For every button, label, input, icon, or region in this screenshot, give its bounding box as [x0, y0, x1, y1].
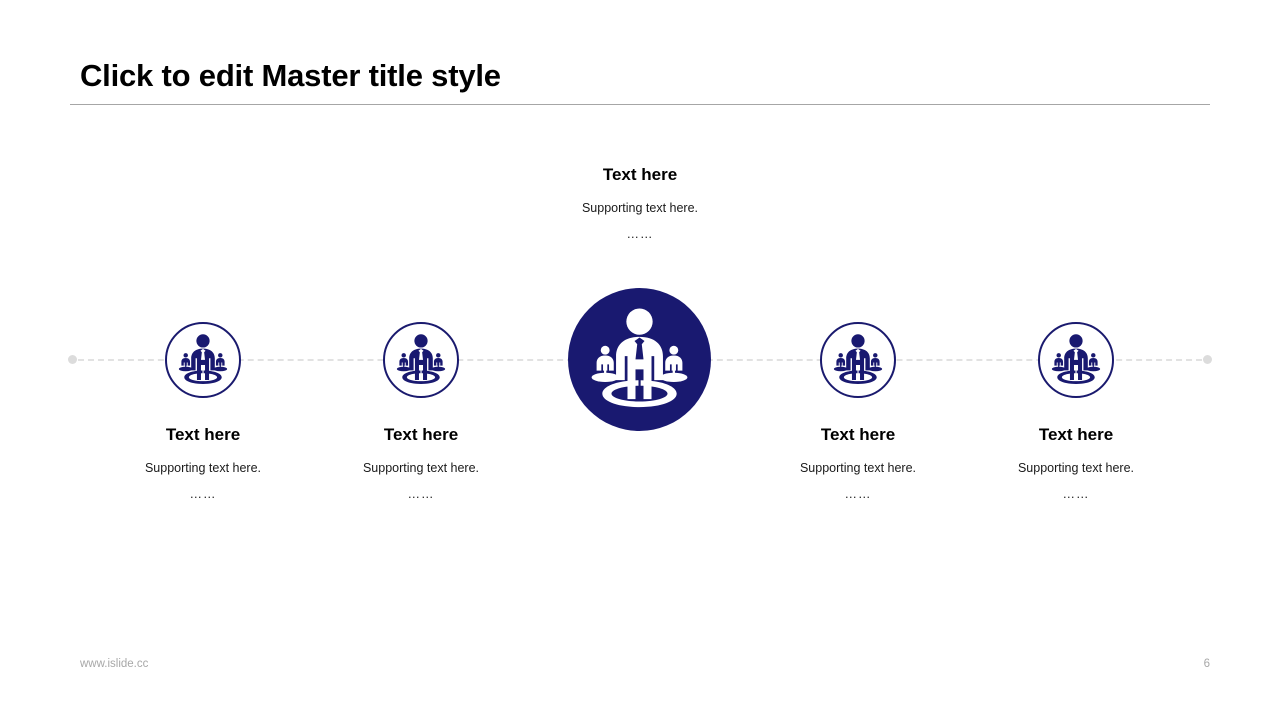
- timeline-node-circle-active[interactable]: [568, 288, 711, 431]
- timeline-node-circle[interactable]: [165, 322, 241, 398]
- page-title: Click to edit Master title style: [80, 58, 501, 94]
- timeline-node-ellipsis: ……: [956, 488, 1196, 501]
- team-leadership-icon: [167, 324, 239, 396]
- team-leadership-icon: [568, 288, 711, 431]
- timeline-node-circle[interactable]: [820, 322, 896, 398]
- timeline-node-title: Text here: [301, 425, 541, 445]
- footer-website: www.islide.cc: [80, 658, 148, 670]
- timeline-endpoint-dot-right: [1203, 355, 1212, 364]
- team-leadership-icon: [385, 324, 457, 396]
- timeline-node-ellipsis: ……: [301, 488, 541, 501]
- timeline-node-title: Text here: [956, 425, 1196, 445]
- timeline-node-text-block: Text hereSupporting text here.……: [83, 425, 323, 501]
- timeline-node-ellipsis: ……: [738, 488, 978, 501]
- title-divider: [70, 104, 1210, 105]
- timeline-node-text-block: Text hereSupporting text here.……: [520, 165, 760, 241]
- team-leadership-icon: [822, 324, 894, 396]
- timeline-node-circle[interactable]: [1038, 322, 1114, 398]
- footer-page-number: 6: [1150, 658, 1210, 670]
- timeline-node-circle[interactable]: [383, 322, 459, 398]
- team-leadership-icon: [1040, 324, 1112, 396]
- timeline-node-title: Text here: [83, 425, 323, 445]
- timeline-node-text-block: Text hereSupporting text here.……: [301, 425, 541, 501]
- timeline-node-text-block: Text hereSupporting text here.……: [738, 425, 978, 501]
- timeline-node-text-block: Text hereSupporting text here.……: [956, 425, 1196, 501]
- timeline-node-title: Text here: [520, 165, 760, 185]
- timeline-node-description: Supporting text here.: [738, 461, 978, 477]
- timeline-node-description: Supporting text here.: [83, 461, 323, 477]
- timeline-node-ellipsis: ……: [520, 228, 760, 241]
- timeline-endpoint-dot-left: [68, 355, 77, 364]
- timeline-node-description: Supporting text here.: [520, 201, 760, 217]
- timeline-node-description: Supporting text here.: [956, 461, 1196, 477]
- timeline-node-ellipsis: ……: [83, 488, 323, 501]
- timeline-node-title: Text here: [738, 425, 978, 445]
- timeline-node-description: Supporting text here.: [301, 461, 541, 477]
